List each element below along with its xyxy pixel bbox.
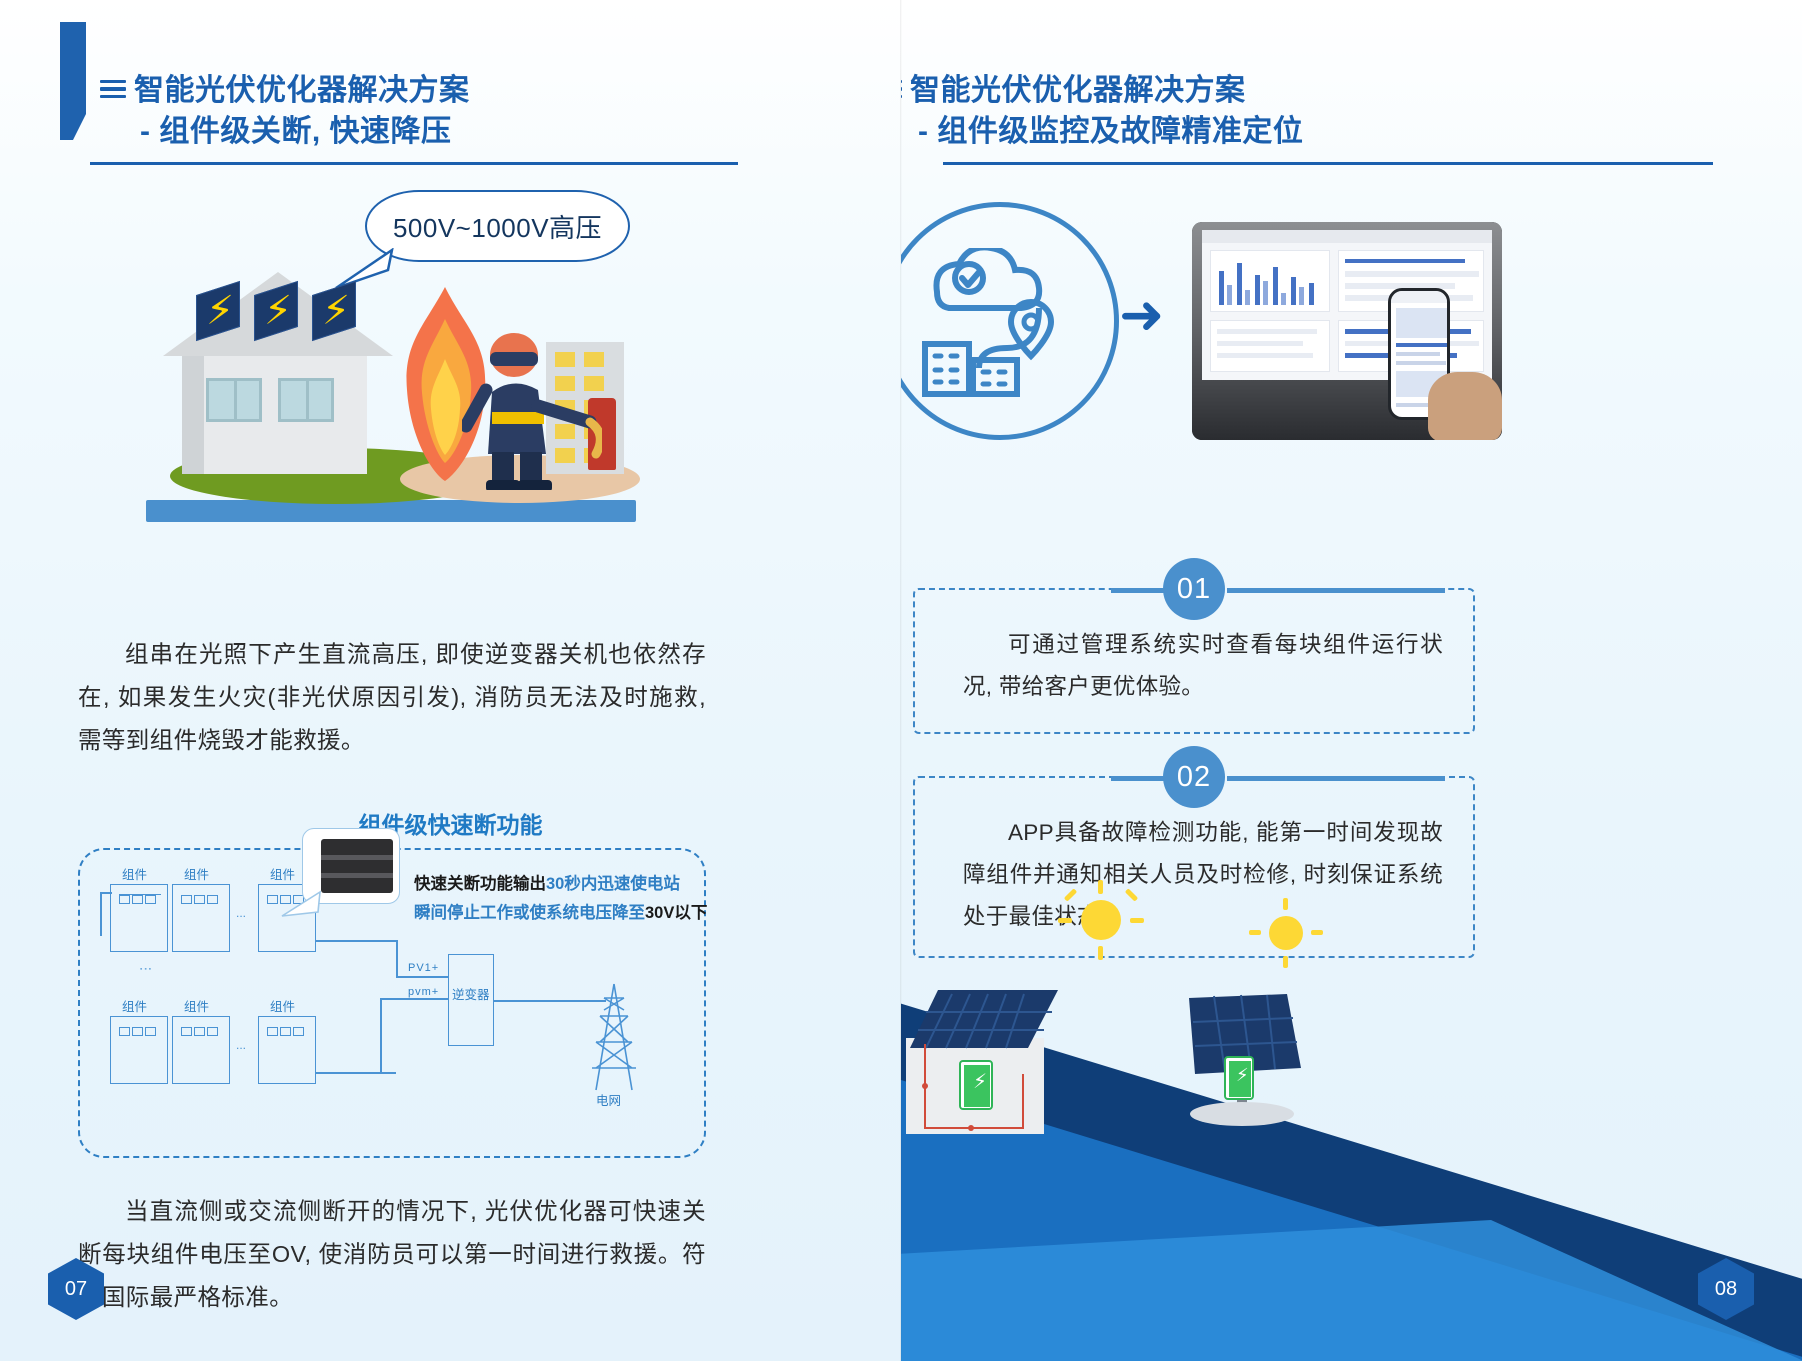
- pv-module: [110, 1016, 168, 1084]
- footer-ground-solar-panel: [1169, 990, 1359, 1130]
- page-left: 智能光伏优化器解决方案 - 组件级关断, 快速降压 500V~1000V高压 ⚡…: [0, 0, 901, 1361]
- sun-ray: [1098, 946, 1103, 960]
- sun-ray: [1058, 918, 1072, 923]
- speech-bubble-tail-icon: [330, 248, 400, 290]
- pv-module: [110, 884, 168, 952]
- footer-house-wiring: [919, 1040, 1039, 1140]
- left-header-subtitle: - 组件级关断, 快速降压: [140, 113, 452, 151]
- sun-icon: [1269, 916, 1303, 950]
- sun-icon: [1081, 900, 1121, 940]
- scene-base-strip: [146, 500, 636, 522]
- chart-card-bars: [1210, 250, 1330, 312]
- device-band: [321, 855, 393, 860]
- device-band: [321, 873, 393, 878]
- wire: [380, 998, 382, 1073]
- left-paragraph-bottom: 当直流侧或交流侧断开的情况下, 光伏优化器可快速关断每块组件电压至OV, 使消防…: [78, 1190, 706, 1319]
- module-ellipsis: ...: [236, 1038, 246, 1052]
- wire: [100, 892, 102, 936]
- arrow-right-icon: ➜: [1119, 288, 1164, 342]
- lightning-bolt-icon: ⚡: [322, 288, 350, 334]
- speech-bubble-text: 500V~1000V高压: [393, 208, 602, 245]
- right-header-subtitle: - 组件级监控及故障精准定位: [918, 113, 1303, 151]
- module-label: 组件: [122, 996, 147, 1015]
- callout-pointer-icon: [276, 890, 324, 926]
- wire: [396, 940, 398, 976]
- series-vertical-dots: ⋮: [138, 963, 154, 978]
- dashboard-photo: [1192, 222, 1502, 440]
- fast-shutdown-schematic: 组件 组件 ... 组件 ⋮ 组件 组件: [78, 848, 706, 1158]
- chart-card-list: [1210, 320, 1330, 372]
- hamburger-icon: [100, 80, 126, 99]
- feature-line-right-02: [1227, 776, 1445, 781]
- feature-text-02: APP具备故障检测功能, 能第一时间发现故障组件并通知相关人员及时检修, 时刻保…: [963, 812, 1443, 938]
- sun-ray: [1311, 930, 1323, 935]
- house-shadow: [182, 352, 204, 474]
- pin-label-pvm: pvm+: [408, 986, 439, 998]
- page-right: 智能光伏优化器解决方案 - 组件级监控及故障精准定位 ➜: [901, 0, 1802, 1361]
- battery-icon: ⚡: [1224, 1056, 1254, 1100]
- left-header-rule: [90, 162, 738, 165]
- right-header-rule: [943, 162, 1713, 165]
- feature-number-02: 02: [1163, 746, 1225, 808]
- left-paragraph-top: 组串在光照下产生直流高压, 即使逆变器关机也依然存在, 如果发生火灾(非光伏原因…: [78, 633, 706, 762]
- house-window: [278, 378, 334, 422]
- sun-ray: [1098, 880, 1103, 894]
- module-label: 组件: [184, 864, 209, 883]
- wire: [380, 998, 448, 1000]
- power-pylon-icon: [580, 980, 650, 1095]
- shutdown-annotation: 快速关断功能输出30秒内迅速使电站 瞬间停止工作或使系统电压降至30V以下: [414, 870, 714, 928]
- cloud-location-building-icon: [919, 248, 1084, 398]
- lightning-bolt-icon: ⚡: [264, 288, 292, 334]
- pv-module: [172, 1016, 230, 1084]
- device-body: [321, 839, 393, 893]
- module-ellipsis: ...: [236, 906, 246, 920]
- pv-module: [258, 1016, 316, 1084]
- wire: [316, 940, 396, 942]
- pv-module: [172, 884, 230, 952]
- header-accent-bar: [60, 22, 86, 140]
- feature-number-01: 01: [1163, 558, 1225, 620]
- annotation-part1: 快速关断功能输出: [414, 875, 546, 893]
- module-label: 组件: [270, 864, 295, 883]
- right-header-title-line1: 智能光伏优化器解决方案: [901, 72, 1246, 110]
- wire: [396, 976, 448, 978]
- inverter-label: 逆变器: [452, 984, 490, 1003]
- sun-ray: [1249, 930, 1261, 935]
- module-label: 组件: [122, 864, 147, 883]
- sun-ray: [1130, 918, 1144, 923]
- left-header-title-line1: 智能光伏优化器解决方案: [100, 72, 470, 110]
- pin-label-pv1: PV1+: [408, 962, 439, 974]
- annotation-part4: 30V以下: [645, 904, 707, 922]
- sun-ray: [1283, 898, 1288, 910]
- annotation-part3: 瞬间停止工作或使系统电压降至: [414, 904, 645, 922]
- module-label: 组件: [270, 996, 295, 1015]
- page-seam: [900, 0, 902, 1361]
- firefighter-figure: [462, 330, 602, 490]
- right-header-title-text: 智能光伏优化器解决方案: [910, 74, 1246, 107]
- brochure-spread: 智能光伏优化器解决方案 - 组件级关断, 快速降压 500V~1000V高压 ⚡…: [0, 0, 1802, 1361]
- diagram-caption: 组件级快速断功能: [0, 806, 901, 840]
- grid-label: 电网: [596, 1090, 621, 1109]
- hand: [1428, 372, 1502, 440]
- wire: [100, 892, 112, 894]
- module-label: 组件: [184, 996, 209, 1015]
- feature-text-01: 可通过管理系统实时查看每块组件运行状况, 带给客户更优体验。: [963, 624, 1443, 708]
- left-header-title-text: 智能光伏优化器解决方案: [134, 74, 470, 107]
- annotation-part2: 30秒内迅速使电站: [546, 875, 680, 893]
- house-window: [206, 378, 262, 422]
- wire: [316, 1072, 396, 1074]
- feature-line-right-01: [1227, 588, 1445, 593]
- lightning-bolt-icon: ⚡: [206, 288, 234, 334]
- speech-bubble: 500V~1000V高压: [365, 190, 630, 262]
